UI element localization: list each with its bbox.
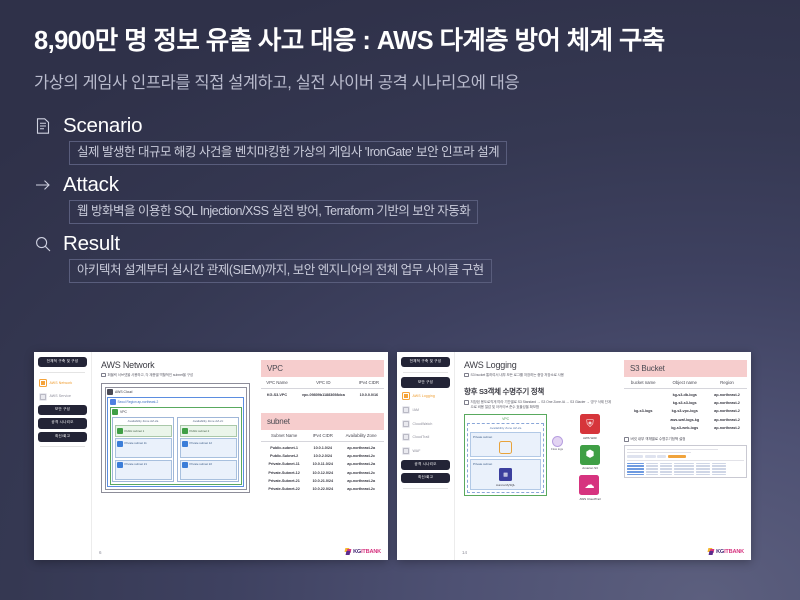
subnet-box: Private subnet 22	[180, 460, 237, 480]
subnet-icon	[117, 462, 123, 468]
divider	[403, 488, 448, 489]
kg-text: KG	[716, 549, 724, 555]
subnet-icon	[117, 428, 123, 434]
page-subtitle: 가상의 게임사 인프라를 직접 설계하고, 실전 사이버 공격 시나리오에 대응	[34, 69, 766, 93]
col-header: Availability Zone	[338, 430, 384, 442]
service-label: AWS CloudTrail	[579, 497, 600, 501]
slide-thumbnail-network[interactable]: 전체적 구축 및 구성 AWS Network AWS Service 보안 구…	[34, 352, 388, 560]
cell: ap-northeast-2	[707, 415, 747, 423]
slide2-nav-rail: 전체적 구축 및 구성 보안 구성 AWS Logging IAM CloudW…	[397, 352, 455, 560]
region-boundary: Seoul Region ap-northeast-2 VPC	[107, 397, 244, 488]
section-result-header: Result	[34, 233, 766, 256]
cell: vpc-09809b11883698dca	[293, 389, 354, 400]
cell: 10.0.12.0/24	[307, 469, 338, 477]
placeholder-line	[627, 460, 744, 461]
rail-top-button[interactable]: 전체적 구축 및 구성	[38, 357, 87, 367]
rail-item-label: WAF	[413, 449, 421, 453]
service-aws-waf: ⛨ AWS WAF	[580, 414, 600, 440]
table-row: Private-Subnet-1210.0.12.0/24ap-northeas…	[261, 469, 384, 477]
availability-zone-2c: Availability Zone AZ-2c Public subnet 2 …	[177, 417, 239, 483]
slide1-canvas: AWS Network 퍼블릭 서브넷을 사용하고, 각 계층별 역할적인 su…	[92, 352, 257, 560]
placeholder-line	[627, 452, 691, 453]
network-icon	[39, 379, 47, 387]
section-result: Result 아키텍처 설계부터 실시간 관제(SIEM)까지, 보안 엔지니어…	[34, 233, 766, 283]
table-row: aws-waf-logs-kgap-northeast-2	[624, 415, 747, 423]
subnet-icon	[182, 462, 188, 468]
vpc-table: VPC Name VPC ID IPv4 CIDR KG-S3-VPC vpc-…	[261, 377, 384, 399]
console-table-row	[627, 468, 744, 470]
toolbar-pill	[645, 455, 656, 458]
section-attack-header: Attack	[34, 174, 766, 197]
slide1-note: 퍼블릭 서브넷을 사용하고, 각 계층별 역할적인 subnet을 구성	[101, 373, 250, 378]
divider	[40, 446, 85, 447]
note-text: S3 bucket 통하여서 내부 모든 로그를 저장하는 중앙 저장소로 사용	[471, 373, 564, 378]
slide-thumbnails: 전체적 구축 및 구성 AWS Network AWS Service 보안 구…	[0, 352, 800, 560]
aws-cloud-boundary: AWS Cloud Seoul Region ap-northeast-2	[105, 387, 247, 490]
kg-itbank-logo: KGITBANK	[708, 548, 744, 555]
section-scenario-desc: 실제 발생한 대규모 해킹 사건을 벤치마킹한 가상의 게임사 'IronGat…	[69, 141, 507, 165]
service-icon	[39, 393, 47, 401]
note-icon	[464, 400, 469, 405]
note-text: 저장된 용도로직게 따라 기간별로 S3 Standard → S3 One Z…	[471, 400, 614, 409]
slide2-data-panel: S3 Bucket bucket name Object name Region…	[620, 352, 751, 560]
cell: Private-Subnet-21	[261, 477, 307, 485]
subnet-panel-title: subnet	[261, 413, 384, 430]
cell: 10.0.11.0/24	[307, 460, 338, 468]
cell: Public-subnet-1	[261, 442, 307, 453]
availability-zone-2a: Availability Zone AZ-2a Public subnet 1 …	[112, 417, 174, 483]
slide2-note: S3 bucket 통하여서 내부 모든 로그를 저장하는 중앙 저장소로 사용	[464, 373, 613, 378]
cell	[624, 399, 662, 407]
slide1-heading: AWS Network	[101, 360, 250, 370]
slide2-heading-lifecycle: 향후 S3객체 수명주기 정책	[464, 386, 613, 397]
cell: 10.0.22.0/24	[307, 485, 338, 493]
slide1-nav-rail: 전체적 구축 및 구성 AWS Network AWS Service 보안 구…	[34, 352, 92, 560]
availability-zone: Availability Zone AZ-2a Private subnet P…	[467, 423, 544, 493]
network-diagram: AWS Cloud Seoul Region ap-northeast-2	[101, 383, 250, 493]
s3-panel-title: S3 Bucket	[624, 360, 747, 377]
subnet-label: Private subnet 11	[125, 441, 147, 445]
divider	[403, 372, 448, 373]
vpc-label: VPC	[467, 417, 544, 421]
subnet-label: Private subnet	[473, 462, 492, 466]
logging-icon	[402, 392, 410, 400]
rail-button-security[interactable]: 보안 구성	[38, 405, 87, 415]
table-row: Public-Subnet-210.0.2.0/24ap-northeast-2…	[261, 452, 384, 460]
document-icon	[34, 117, 52, 135]
private-subnet-2: Private subnet ▩ Aurora MySQL	[470, 459, 541, 490]
vpc-panel-title: VPC	[261, 360, 384, 377]
rail-item-iam[interactable]: IAM	[401, 404, 450, 415]
az-label: Availability Zone AZ-2a	[115, 419, 172, 423]
kg-logo-mark	[708, 548, 715, 555]
service-label: Amazon S3	[580, 466, 600, 470]
subnet-box: Private subnet 21	[115, 460, 172, 480]
subnet-box: Private subnet 12	[180, 438, 237, 458]
section-result-title: Result	[63, 233, 120, 256]
rail-item-label: AWS Service	[50, 394, 72, 398]
flow-logs-icon	[552, 436, 563, 447]
rail-item-label: AWS Network	[50, 381, 73, 385]
table-row: Private-Subnet-2210.0.22.0/24ap-northeas…	[261, 485, 384, 493]
logging-diagram: VPC Availability Zone AZ-2a Private subn…	[464, 414, 613, 501]
cell: kg-s3-web-logs	[662, 424, 707, 432]
rail-item-aws-service[interactable]: AWS Service	[38, 391, 87, 402]
rail-item-aws-network[interactable]: AWS Network	[38, 377, 87, 388]
placeholder-line	[627, 449, 718, 450]
service-label: AWS WAF	[580, 436, 600, 440]
table-row: kg-s3-logskg-s3-vpc-logsap-northeast-2	[624, 407, 747, 415]
cell: Public-Subnet-2	[261, 452, 307, 460]
cell: ap-northeast-2	[707, 399, 747, 407]
col-header: IPv4 CIDR	[354, 377, 384, 389]
slide1-page-number: 6	[99, 550, 102, 555]
section-attack-desc: 웹 방화벽을 이용한 SQL Injection/XSS 실전 방어, Terr…	[69, 200, 478, 224]
col-header: IPv4 CIDR	[307, 430, 338, 442]
cell: ap-northeast-2c	[338, 469, 384, 477]
rail-item-label: AWS Logging	[413, 394, 435, 398]
cell: 10.0.0.0/16	[354, 389, 384, 400]
waf-icon	[402, 447, 410, 455]
az-label: Availability Zone AZ-2c	[180, 419, 237, 423]
console-note: 버킷 내부 객체별로 수명주기정책 설정	[624, 437, 747, 442]
note-text: 퍼블릭 서브넷을 사용하고, 각 계층별 역할적인 subnet을 구성	[108, 373, 194, 378]
kg-logo-text: KGITBANK	[716, 549, 744, 555]
cell	[624, 424, 662, 432]
create-button-pill	[668, 455, 686, 458]
cloudtrail-icon: ☁	[579, 475, 599, 495]
cloudtrail-icon	[402, 433, 410, 441]
col-header: VPC ID	[293, 377, 354, 389]
cell: ap-northeast-2a	[338, 477, 384, 485]
rail-button-attack-scenario[interactable]: 공격 시나리오	[38, 418, 87, 428]
region-label: Seoul Region ap-northeast-2	[118, 400, 159, 404]
private-subnet-1: Private subnet	[470, 432, 541, 457]
subnet-label: Public subnet 2	[190, 429, 210, 433]
divider	[40, 372, 85, 373]
subnet-label: Public subnet 1	[125, 429, 145, 433]
rail-item-cloudtrail[interactable]: CloudTrail	[401, 432, 450, 443]
console-toolbar	[627, 455, 744, 458]
note-icon	[624, 437, 629, 442]
table-row: kg-s3-db-logsap-northeast-2	[624, 389, 747, 400]
table-row: kg-s3-web-logsap-northeast-2	[624, 424, 747, 432]
rail-item-aws-logging[interactable]: AWS Logging	[401, 391, 450, 402]
database-label: Aurora MySQL	[496, 483, 515, 487]
s3-icon: ⬢	[580, 445, 600, 465]
vpc-boundary: VPC Availability Zone AZ-2a Private subn…	[464, 414, 547, 496]
az-label: Availability Zone AZ-2a	[470, 426, 541, 430]
cell: KG-S3-VPC	[261, 389, 293, 400]
cell	[624, 415, 662, 423]
service-amazon-s3: ⬢ Amazon S3	[580, 445, 600, 471]
console-table-row	[627, 465, 744, 467]
slide2-heading: AWS Logging	[464, 360, 613, 370]
section-attack-title: Attack	[63, 174, 119, 197]
slide1-data-panel: VPC VPC Name VPC ID IPv4 CIDR KG-S3-VPC …	[257, 352, 388, 560]
section-result-desc: 아키텍처 설계부터 실시간 관제(SIEM)까지, 보안 엔지니어의 전체 업무…	[69, 259, 492, 283]
waf-icon: ⛨	[580, 414, 600, 434]
toolbar-pill	[657, 455, 666, 458]
rail-item-label: CloudTrail	[413, 435, 430, 439]
table-row: KG-S3-VPC vpc-09809b11883698dca 10.0.0.0…	[261, 389, 384, 400]
rail-item-cloudwatch[interactable]: CloudWatch	[401, 418, 450, 429]
cell	[624, 389, 662, 400]
col-header: bucket name	[624, 377, 662, 389]
cell: ap-northeast-2	[707, 407, 747, 415]
itbank-text: ITBANK	[724, 549, 744, 555]
magnifier-icon	[34, 235, 52, 253]
toolbar-pill	[627, 455, 643, 458]
cell: Private-Subnet-11	[261, 460, 307, 468]
page-header: 8,900만 명 정보 유출 사고 대응 : AWS 다계층 방어 체계 구축 …	[0, 0, 800, 93]
subnet-icon	[182, 428, 188, 434]
subnet-label: Private subnet 22	[190, 462, 213, 466]
note-icon	[101, 373, 106, 378]
col-header: Subnet Name	[261, 430, 307, 442]
cell: Private-Subnet-12	[261, 469, 307, 477]
subnet-icon	[117, 441, 123, 447]
subnet-box: Public subnet 2	[180, 425, 237, 437]
subnet-icon	[182, 441, 188, 447]
rail-button-retrospective[interactable]: 최신/회고	[38, 432, 87, 442]
cell: 10.0.21.0/24	[307, 477, 338, 485]
table-row: kg-s3-s3-logsap-northeast-2	[624, 399, 747, 407]
cell: ap-northeast-2	[707, 389, 747, 400]
aws-console-screenshot	[624, 445, 747, 478]
subnet-label: Private subnet 12	[190, 441, 213, 445]
iam-icon	[402, 406, 410, 414]
cell: ap-northeast-2a	[338, 442, 384, 453]
cell: 10.0.1.0/24	[307, 442, 338, 453]
table-row: Public-subnet-110.0.1.0/24ap-northeast-2…	[261, 442, 384, 453]
rail-button-attack-scenario[interactable]: 공격 시나리오	[401, 460, 450, 470]
slide2-page-number: 14	[462, 550, 467, 555]
kg-text: KG	[353, 549, 361, 555]
cloudwatch-icon	[402, 420, 410, 428]
arrow-right-icon	[34, 176, 52, 194]
cell: kg-s3-s3-logs	[662, 399, 707, 407]
console-table-row	[627, 474, 744, 476]
vpc-boundary: VPC Availability Zone AZ-2a Public subne…	[110, 407, 242, 485]
kg-logo-mark	[345, 548, 352, 555]
col-header: Object name	[662, 377, 707, 389]
kg-logo-text: KGITBANK	[353, 549, 381, 555]
subnet-label: Private subnet 21	[125, 462, 148, 466]
subnet-label: Private subnet	[473, 435, 492, 439]
section-scenario-header: Scenario	[34, 115, 766, 138]
subnet-box: Private subnet 11	[115, 438, 172, 458]
kg-itbank-logo: KGITBANK	[345, 548, 381, 555]
cell: 10.0.2.0/24	[307, 452, 338, 460]
note-icon	[464, 373, 469, 378]
cell: ap-northeast-2	[707, 424, 747, 432]
rail-item-label: IAM	[413, 408, 420, 412]
subnet-box: Public subnet 1	[115, 425, 172, 437]
col-header: VPC Name	[261, 377, 293, 389]
cloud-icon	[107, 389, 113, 395]
section-scenario-title: Scenario	[63, 115, 142, 138]
cell: kg-s3-db-logs	[662, 389, 707, 400]
service-aws-cloudtrail: ☁ AWS CloudTrail	[579, 475, 600, 501]
database-icon: ▩	[499, 468, 512, 481]
cell: aws-waf-logs-kg	[662, 415, 707, 423]
rail-top-button[interactable]: 전체적 구축 및 구성	[401, 357, 450, 367]
flow-logs-label: Flow logs	[551, 447, 563, 451]
console-table-row	[627, 463, 744, 465]
itbank-text: ITBANK	[361, 549, 381, 555]
subnet-table: Subnet Name IPv4 CIDR Availability Zone …	[261, 430, 384, 493]
rail-item-waf[interactable]: WAF	[401, 446, 450, 457]
console-table-row	[627, 471, 744, 473]
page-title: 8,900만 명 정보 유출 사고 대응 : AWS 다계층 방어 체계 구축	[34, 26, 766, 57]
region-icon	[110, 399, 116, 405]
cloud-label: AWS Cloud	[115, 390, 132, 394]
table-row: Private-Subnet-1110.0.11.0/24ap-northeas…	[261, 460, 384, 468]
cell: ap-northeast-2c	[338, 485, 384, 493]
vpc-icon	[112, 409, 118, 415]
cell: ap-northeast-2a	[338, 460, 384, 468]
slide2-canvas: AWS Logging S3 bucket 통하여서 내부 모든 로그를 저장하…	[455, 352, 620, 560]
rail-button-retrospective[interactable]: 최신/회고	[401, 473, 450, 483]
cell: ap-northeast-2c	[338, 452, 384, 460]
section-attack: Attack 웹 방화벽을 이용한 SQL Injection/XSS 실전 방…	[34, 174, 766, 224]
cell: Private-Subnet-22	[261, 485, 307, 493]
aws-services-column: ⛨ AWS WAF ⬢ Amazon S3 ☁ AWS CloudTrail	[567, 414, 613, 501]
vpc-label: VPC	[120, 410, 127, 414]
rail-button-security[interactable]: 보안 구성	[401, 377, 450, 387]
section-scenario: Scenario 실제 발생한 대규모 해킹 사건을 벤치마킹한 가상의 게임사…	[34, 115, 766, 165]
col-header: Region	[707, 377, 747, 389]
console-note-text: 버킷 내부 객체별로 수명주기정책 설정	[631, 437, 686, 442]
slide-thumbnail-logging[interactable]: 전체적 구축 및 구성 보안 구성 AWS Logging IAM CloudW…	[397, 352, 751, 560]
flow-logs-group: Flow logs	[551, 414, 563, 451]
slide2-note-lifecycle: 저장된 용도로직게 따라 기간별로 S3 Standard → S3 One Z…	[464, 400, 613, 409]
table-row: Private-Subnet-2110.0.21.0/24ap-northeas…	[261, 477, 384, 485]
cell: kg-s3-logs	[624, 407, 662, 415]
sections-list: Scenario 실제 발생한 대규모 해킹 사건을 벤치마킹한 가상의 게임사…	[0, 115, 800, 284]
ec2-instance-icon	[499, 441, 512, 454]
cell: kg-s3-vpc-logs	[662, 407, 707, 415]
s3-bucket-table: bucket name Object name Region kg-s3-db-…	[624, 377, 747, 432]
rail-item-label: CloudWatch	[413, 422, 433, 426]
